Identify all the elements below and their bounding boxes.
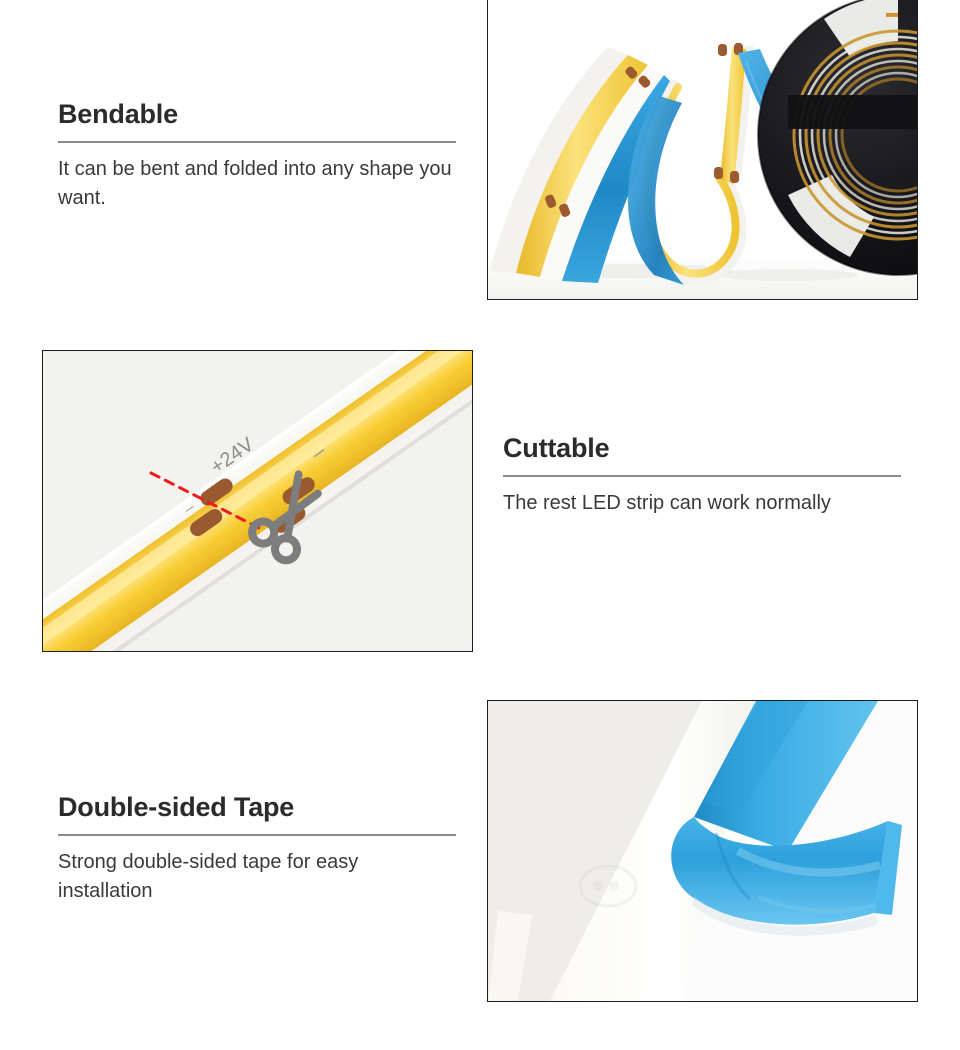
infographic-page: Bendable It can be bent and folded into … xyxy=(0,0,960,1050)
feature-text-bendable: Bendable It can be bent and folded into … xyxy=(58,100,458,233)
bendable-led-strip-photo xyxy=(487,0,918,300)
feature-heading-bendable: Bendable xyxy=(58,100,458,130)
feature-text-cuttable: Cuttable The rest LED strip can work nor… xyxy=(503,434,903,538)
feature-body-cuttable: The rest LED strip can work normally xyxy=(503,489,903,518)
feature-divider-bendable xyxy=(58,141,456,143)
feature-heading-tape: Double-sided Tape xyxy=(58,793,458,823)
feature-divider-cuttable xyxy=(503,475,901,477)
double-sided-tape-photo xyxy=(487,700,918,1002)
bendable-photo-illustration xyxy=(488,0,917,299)
tape-photo-illustration xyxy=(488,701,917,1001)
feature-heading-cuttable: Cuttable xyxy=(503,434,903,464)
feature-body-bendable: It can be bent and folded into any shape… xyxy=(58,155,458,213)
cuttable-led-strip-photo: +24V – – xyxy=(42,350,473,652)
feature-body-tape: Strong double-sided tape for easy instal… xyxy=(58,848,458,906)
feature-text-tape: Double-sided Tape Strong double-sided ta… xyxy=(58,793,458,926)
feature-divider-tape xyxy=(58,834,456,836)
cuttable-photo-illustration: +24V – – xyxy=(43,351,472,651)
